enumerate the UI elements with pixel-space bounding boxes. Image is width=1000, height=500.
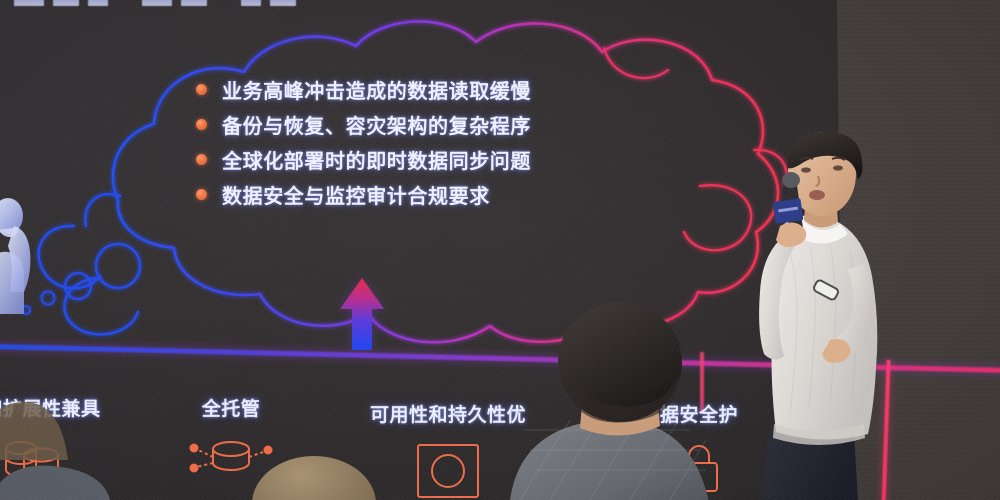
title-glyph — [88, 0, 108, 6]
list-item: 业务高峰冲击造成的数据读取缓慢 — [196, 72, 616, 107]
slide-bullet-list: 业务高峰冲击造成的数据读取缓慢 备份与恢复、容灾架构的复杂程序 全球化部署时的即… — [196, 72, 616, 212]
bullet-text: 数据安全与监控审计合规要求 — [222, 180, 490, 209]
hair — [252, 456, 376, 500]
title-glyph — [14, 0, 44, 6]
title-glyph — [270, 0, 296, 6]
bullet-marker-icon — [196, 119, 207, 130]
shoulder — [0, 466, 110, 500]
title-glyph — [181, 0, 207, 6]
bullet-text: 备份与恢复、容灾架构的复杂程序 — [222, 110, 531, 139]
audience-member-center — [500, 300, 800, 500]
bullet-text: 全球化部署时的即时数据同步问题 — [222, 145, 531, 174]
title-glyph — [142, 0, 172, 6]
title-glyph-gap — [117, 0, 133, 6]
bullet-text: 业务高峰冲击造成的数据读取缓慢 — [222, 75, 531, 104]
feature-label: 全托管 — [188, 394, 274, 421]
bullet-marker-icon — [196, 84, 207, 95]
list-item: 全球化部署时的即时数据同步问题 — [196, 142, 616, 177]
presentation-photo-scene: 业务高峰冲击造成的数据读取缓慢 备份与恢复、容灾架构的复杂程序 全球化部署时的即… — [0, 0, 1000, 500]
audience-member-foreground — [0, 340, 76, 460]
title-glyph-gap — [216, 0, 232, 6]
list-item: 备份与恢复、容灾架构的复杂程序 — [196, 107, 616, 142]
list-item: 数据安全与监控审计合规要求 — [196, 177, 616, 212]
slide-title-clipped — [14, 0, 344, 6]
illustrated-thinking-person — [0, 186, 40, 314]
up-arrow-icon — [339, 277, 385, 351]
audience-member-left — [240, 448, 400, 500]
title-glyph — [241, 0, 261, 6]
title-glyph — [53, 0, 79, 6]
arrow-shape — [340, 278, 384, 350]
bullet-marker-icon — [196, 189, 207, 200]
bullet-marker-icon — [196, 154, 207, 165]
